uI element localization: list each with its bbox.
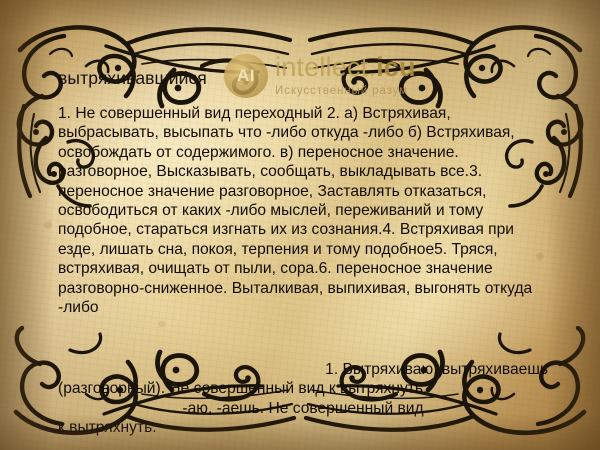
definition-text: 1. Не совершенный вид переходный 2. а) В… [58,104,546,317]
conjugation-line-1: 1. Вытряхиваю, вытряхиваешь [58,360,548,379]
page-title: вытряхивавшийся [58,68,207,89]
conjugation-line-3: -аю, -аешь. Не совершенный вид [58,399,548,418]
content-area: вытряхивавшийся 1. Не совершенный вид пе… [0,0,600,450]
conjugation-line-2: (разговорный). Не совершенный вид к вытр… [58,379,548,398]
slide-canvas: AI intellect.icu Искусственный разум выт… [0,0,600,450]
conjugation-block: 1. Вытряхиваю, вытряхиваешь (разговорный… [58,360,548,438]
conjugation-line-4: к вытряхнуть. [58,418,548,437]
